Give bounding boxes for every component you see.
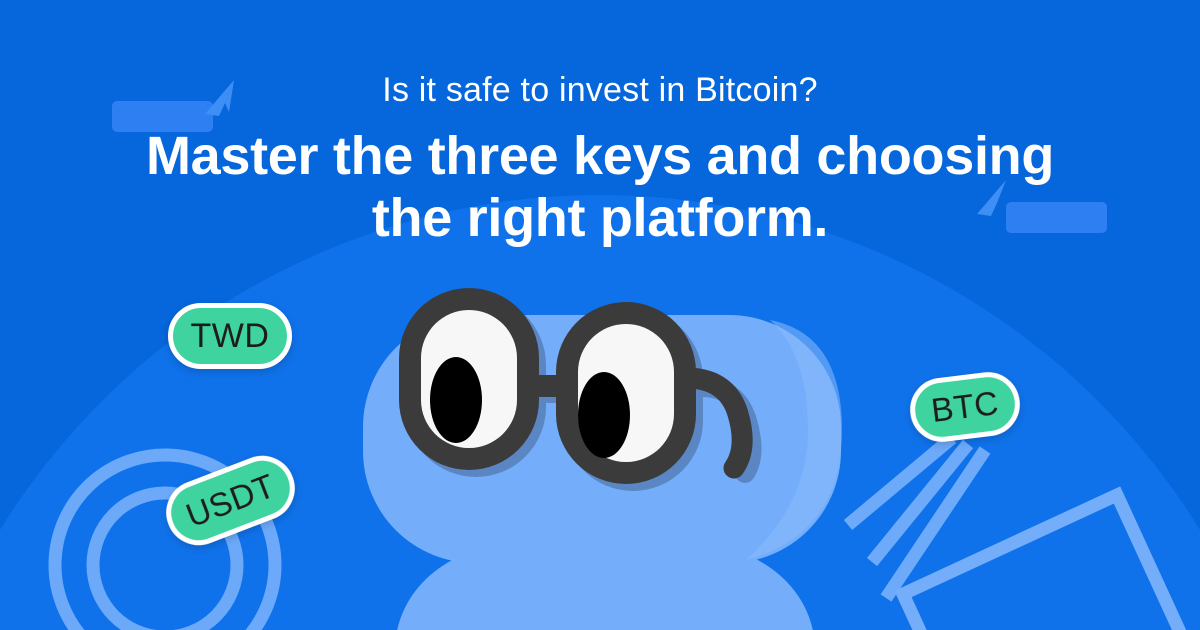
right-pupil	[578, 372, 630, 458]
left-pupil	[430, 357, 482, 443]
promo-banner: Is it safe to invest in Bitcoin? Master …	[0, 0, 1200, 630]
decorative-bar-right	[1006, 202, 1107, 233]
twd-currency-badge[interactable]: TWD	[168, 303, 292, 369]
decorative-bar-left	[112, 101, 213, 132]
glasses-right-lens	[556, 302, 696, 484]
glasses-left-lens	[399, 288, 539, 470]
